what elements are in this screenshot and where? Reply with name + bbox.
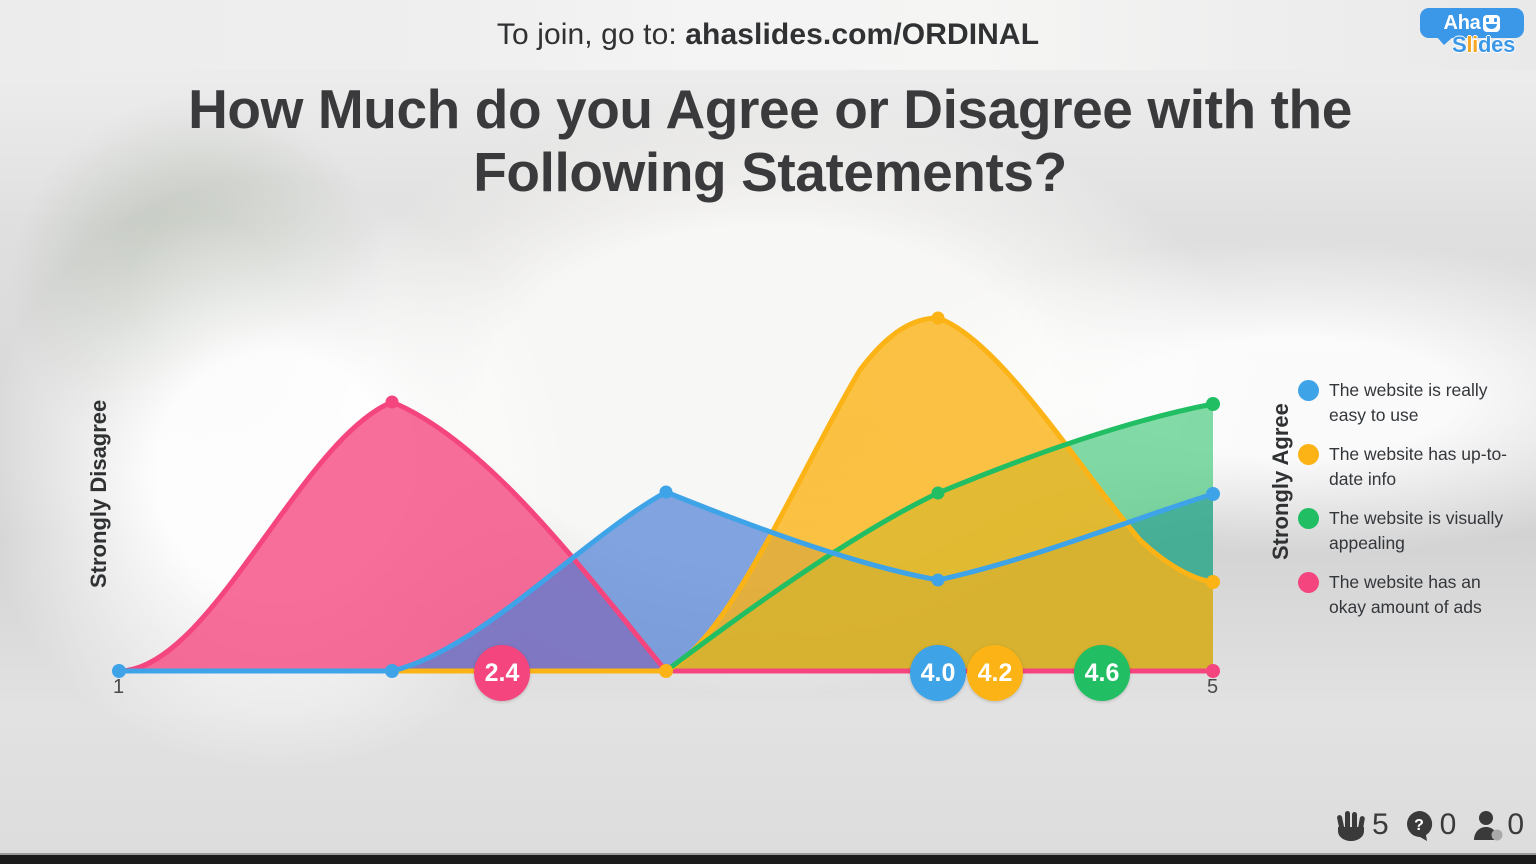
stat-raised-hands[interactable]: 5 xyxy=(1335,808,1389,842)
chart-legend: The website is really easy to use The we… xyxy=(1298,378,1513,634)
data-point xyxy=(1206,487,1220,501)
legend-item-visually-appealing[interactable]: The website is visually appealing xyxy=(1298,506,1513,556)
stat-participants[interactable]: 0 xyxy=(1472,808,1524,842)
join-instruction-text: To join, go to: ahaslides.com/ORDINAL xyxy=(497,18,1039,52)
axis-label-strongly-disagree: Strongly Disagree xyxy=(86,400,112,588)
stat-questions[interactable]: ? 0 xyxy=(1405,808,1457,842)
data-point xyxy=(932,487,945,500)
legend-color-dot xyxy=(1298,444,1319,465)
smiley-face-icon xyxy=(1483,15,1500,32)
join-url: ahaslides.com/ORDINAL xyxy=(685,18,1039,51)
average-badge: 2.4 xyxy=(474,645,530,701)
average-badge: 4.0 xyxy=(910,645,966,701)
legend-item-label: The website is visually appealing xyxy=(1329,506,1509,556)
svg-text:?: ? xyxy=(1414,817,1424,834)
bottom-bar xyxy=(0,855,1536,864)
legend-item-up-to-date-info[interactable]: The website has up-to-date info xyxy=(1298,442,1513,492)
axis-tick-min: 1 xyxy=(113,676,124,699)
raised-hand-icon xyxy=(1335,809,1369,841)
legend-item-label: The website has an okay amount of ads xyxy=(1329,570,1509,620)
logo-word-slides: Slides xyxy=(1452,32,1515,58)
question-bubble-icon: ? xyxy=(1405,809,1437,841)
legend-item-label: The website is really easy to use xyxy=(1329,378,1509,428)
data-point xyxy=(932,574,945,587)
stat-count: 0 xyxy=(1440,808,1457,842)
axis-label-strongly-agree: Strongly Agree xyxy=(1268,403,1294,560)
person-icon xyxy=(1472,809,1504,841)
average-badge: 4.6 xyxy=(1074,645,1130,701)
join-instruction-bar: To join, go to: ahaslides.com/ORDINAL xyxy=(0,0,1536,70)
average-badge: 4.2 xyxy=(967,645,1023,701)
legend-item-label: The website has up-to-date info xyxy=(1329,442,1509,492)
legend-item-easy-to-use[interactable]: The website is really easy to use xyxy=(1298,378,1513,428)
page-title: How Much do you Agree or Disagree with t… xyxy=(100,78,1440,203)
data-point xyxy=(386,396,399,409)
legend-item-okay-amount-of-ads[interactable]: The website has an okay amount of ads xyxy=(1298,570,1513,620)
legend-color-dot xyxy=(1298,572,1319,593)
data-point xyxy=(1206,575,1220,589)
slide-stats-bar: 5 ? 0 0 xyxy=(1324,808,1524,842)
data-point xyxy=(659,664,673,678)
legend-color-dot xyxy=(1298,508,1319,529)
data-point xyxy=(385,664,399,678)
stat-count: 5 xyxy=(1372,808,1389,842)
join-prefix: To join, go to: xyxy=(497,18,685,51)
stat-count: 0 xyxy=(1507,808,1524,842)
data-point xyxy=(932,312,945,325)
axis-tick-max: 5 xyxy=(1207,676,1218,699)
data-point xyxy=(1206,397,1220,411)
legend-color-dot xyxy=(1298,380,1319,401)
ahaslides-logo[interactable]: Aha Slides xyxy=(1408,6,1528,60)
data-point xyxy=(660,486,673,499)
